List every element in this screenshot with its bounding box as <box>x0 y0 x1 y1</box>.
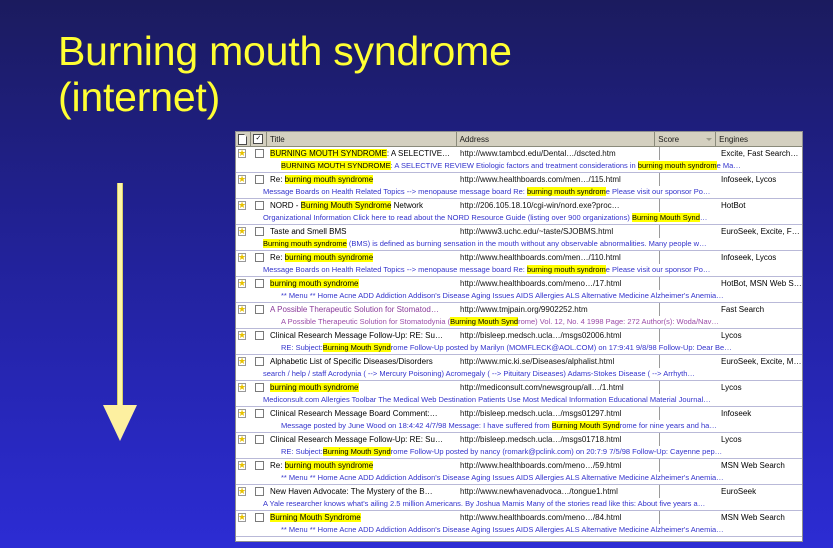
result-snippet[interactable]: ** Menu ** Home Acne ADD Addiction Addis… <box>236 472 802 484</box>
result-score <box>656 329 717 342</box>
checkbox-icon[interactable] <box>255 357 264 366</box>
column-header-score[interactable]: Score <box>655 132 716 147</box>
down-arrow-icon <box>102 183 138 441</box>
result-checkbox[interactable] <box>251 175 267 184</box>
sort-descending-icon[interactable] <box>706 138 712 141</box>
result-address[interactable]: http://www.tmjpain.org/9902252.htm <box>457 305 656 314</box>
result-page-icon[interactable]: ★ <box>236 513 251 523</box>
result-checkbox[interactable] <box>251 227 267 236</box>
table-row[interactable]: ★Clinical Research Message Follow-Up: RE… <box>236 329 802 355</box>
column-header-engines[interactable]: Engines <box>716 132 802 147</box>
result-engines: EuroSeek, Excite, M… <box>717 357 802 366</box>
score-bar <box>659 381 660 394</box>
score-bar <box>659 407 660 420</box>
score-bar <box>659 199 660 212</box>
score-bar <box>659 355 660 368</box>
arrow-head <box>103 405 137 441</box>
result-checkbox[interactable] <box>251 435 267 444</box>
table-row[interactable]: ★BURNING MOUTH SYNDROME: A SELECTIVE…htt… <box>236 147 802 173</box>
result-engines: Infoseek <box>717 409 802 418</box>
column-header-score-label: Score <box>658 132 679 147</box>
result-address[interactable]: http://www.tambcd.edu/Dental…/dscted.htm <box>457 149 656 158</box>
result-checkbox[interactable] <box>251 461 267 470</box>
result-score <box>656 147 717 160</box>
result-title[interactable]: Burning Mouth Syndrome <box>267 513 457 522</box>
table-row[interactable]: ★burning mouth syndromehttp://mediconsul… <box>236 381 802 407</box>
page-title: Burning mouth syndrome (internet) <box>58 28 618 120</box>
result-score <box>656 407 717 420</box>
result-page-icon[interactable]: ★ <box>236 331 251 341</box>
result-score <box>656 485 717 498</box>
result-address[interactable]: http://www.healthboards.com/meno…/17.htm… <box>457 279 656 288</box>
result-address[interactable]: http://www.healthboards.com/meno…/84.htm… <box>457 513 656 522</box>
checkbox-icon[interactable] <box>255 461 264 470</box>
result-page-icon[interactable]: ★ <box>236 201 251 211</box>
result-engines: EuroSeek <box>717 487 802 496</box>
arrow-shaft <box>117 183 123 408</box>
result-checkbox[interactable] <box>251 253 267 262</box>
star-page-icon: ★ <box>238 513 249 523</box>
result-checkbox[interactable] <box>251 201 267 210</box>
result-title[interactable]: Clinical Research Message Follow-Up: RE:… <box>267 435 457 444</box>
result-engines: MSN Web Search <box>717 513 802 522</box>
result-title[interactable]: A Possible Therapeutic Solution for Stom… <box>267 305 457 314</box>
result-title[interactable]: NORD - Burning Mouth Syndrome Network <box>267 201 457 210</box>
result-engines: EuroSeek, Excite, F… <box>717 227 802 236</box>
result-score <box>656 225 717 238</box>
result-checkbox[interactable] <box>251 357 267 366</box>
result-engines: Lycos <box>717 383 802 392</box>
result-page-icon[interactable]: ★ <box>236 279 251 289</box>
checkbox-icon[interactable] <box>255 149 264 158</box>
result-title[interactable]: Clinical Research Message Board Comment:… <box>267 409 457 418</box>
slide: Burning mouth syndrome (internet) ✓ Titl… <box>0 0 833 548</box>
result-snippet[interactable]: RE: Subject:Burning Mouth Syndrome Fol… <box>236 446 802 458</box>
result-engines: Fast Search <box>717 305 802 314</box>
result-score <box>656 511 717 524</box>
result-address[interactable]: http://mediconsult.com/newsgroup/all…/1.… <box>457 383 656 392</box>
result-engines: Infoseek, Lycos <box>717 175 802 184</box>
result-engines: Lycos <box>717 331 802 340</box>
result-snippet[interactable]: Message Boards on Health Related Topics … <box>236 264 802 276</box>
checkbox-icon[interactable] <box>255 279 264 288</box>
result-title[interactable]: Clinical Research Message Follow-Up: RE:… <box>267 331 457 340</box>
checkbox-icon[interactable] <box>255 435 264 444</box>
score-bar <box>659 459 660 472</box>
result-score <box>656 199 717 212</box>
table-row[interactable]: ★Re: burning mouth syndromehttp://www.he… <box>236 459 802 485</box>
star-page-icon: ★ <box>238 227 249 237</box>
star-page-icon: ★ <box>238 409 249 419</box>
checkbox-icon[interactable] <box>255 305 264 314</box>
column-header-address[interactable]: Address <box>457 132 656 147</box>
result-address[interactable]: http://www.healthboards.com/men…/110.htm… <box>457 253 656 262</box>
result-page-icon[interactable]: ★ <box>236 175 251 185</box>
column-header-title[interactable]: Title <box>267 132 457 147</box>
result-engines: Excite, Fast Search… <box>717 149 802 158</box>
result-address[interactable]: http://www.healthboards.com/men…/115.htm… <box>457 175 656 184</box>
table-row[interactable]: ★Clinical Research Message Board Comment… <box>236 407 802 433</box>
result-engines: HotBot, MSN Web S… <box>717 279 802 288</box>
result-page-icon[interactable]: ★ <box>236 149 251 159</box>
score-bar <box>659 225 660 238</box>
star-page-icon: ★ <box>238 279 249 289</box>
score-bar <box>659 433 660 446</box>
table-row[interactable]: ★Re: burning mouth syndromehttp://www.he… <box>236 173 802 199</box>
results-list[interactable]: ★BURNING MOUTH SYNDROME: A SELECTIVE…htt… <box>236 147 802 537</box>
result-page-icon[interactable]: ★ <box>236 305 251 315</box>
result-snippet[interactable]: A Possible Therapeutic Solution for Stom… <box>236 316 802 328</box>
score-bar <box>659 329 660 342</box>
star-page-icon: ★ <box>238 331 249 341</box>
table-row[interactable]: ★Alphabetic List of Specific Diseases/Di… <box>236 355 802 381</box>
result-page-icon[interactable]: ★ <box>236 487 251 497</box>
result-page-icon[interactable]: ★ <box>236 227 251 237</box>
result-page-icon[interactable]: ★ <box>236 357 251 367</box>
result-checkbox[interactable] <box>251 331 267 340</box>
result-title[interactable]: New Haven Advocate: The Mystery of the B… <box>267 487 457 496</box>
table-row[interactable]: ★Burning Mouth Syndromehttp://www.health… <box>236 511 802 537</box>
result-address[interactable]: http://bisleep.medsch.ucla…/msgs01297.ht… <box>457 409 656 418</box>
result-title[interactable]: burning mouth syndrome <box>267 383 457 392</box>
checkbox-icon[interactable] <box>255 487 264 496</box>
result-score <box>656 277 717 290</box>
result-snippet[interactable]: Message posted by June Wood on 18:4:42 4… <box>236 420 802 432</box>
result-checkbox[interactable] <box>251 513 267 522</box>
result-page-icon[interactable]: ★ <box>236 383 251 393</box>
score-bar <box>659 511 660 524</box>
score-bar <box>659 303 660 316</box>
checkbox-icon[interactable] <box>255 513 264 522</box>
result-page-icon[interactable]: ★ <box>236 435 251 445</box>
star-page-icon: ★ <box>238 149 249 159</box>
star-page-icon: ★ <box>238 383 249 393</box>
checkbox-icon[interactable] <box>255 175 264 184</box>
table-row[interactable]: ★Re: burning mouth syndromehttp://www.he… <box>236 251 802 277</box>
result-title[interactable]: BURNING MOUTH SYNDROME: A SELECTIVE… <box>267 149 457 158</box>
result-page-icon[interactable]: ★ <box>236 409 251 419</box>
result-page-icon[interactable]: ★ <box>236 461 251 471</box>
checkbox-icon[interactable] <box>255 331 264 340</box>
checkbox-checked-icon[interactable]: ✓ <box>253 134 263 144</box>
star-page-icon: ★ <box>238 435 249 445</box>
result-address[interactable]: http://www3.uchc.edu/~taste/SJOBMS.html <box>457 227 656 236</box>
checkbox-icon[interactable] <box>255 253 264 262</box>
star-page-icon: ★ <box>238 357 249 367</box>
result-title[interactable]: Taste and Smell BMS <box>267 227 457 236</box>
score-bar <box>659 173 660 186</box>
result-title[interactable]: Alphabetic List of Specific Diseases/Dis… <box>267 357 457 366</box>
result-snippet[interactable]: Burning mouth syndrome (BMS) is defined … <box>236 238 802 250</box>
result-checkbox[interactable] <box>251 487 267 496</box>
result-snippet[interactable]: RE: Subject:Burning Mouth Syndrome Fol… <box>236 342 802 354</box>
result-address[interactable]: http://www.mic.ki.se/Diseases/alphalist.… <box>457 357 656 366</box>
result-checkbox[interactable] <box>251 383 267 392</box>
result-snippet[interactable]: BURNING MOUTH SYNDROME: A SELECTIVE REVI… <box>236 160 802 172</box>
result-engines: Infoseek, Lycos <box>717 253 802 262</box>
checkbox-icon[interactable] <box>255 201 264 210</box>
result-checkbox[interactable] <box>251 149 267 158</box>
result-score <box>656 251 717 264</box>
star-page-icon: ★ <box>238 487 249 497</box>
result-engines: HotBot <box>717 201 802 210</box>
score-bar <box>659 277 660 290</box>
table-row[interactable]: ★Clinical Research Message Follow-Up: RE… <box>236 433 802 459</box>
score-bar <box>659 147 660 160</box>
column-header-checkbox[interactable]: ✓ <box>251 132 267 147</box>
star-page-icon: ★ <box>238 305 249 315</box>
checkbox-icon[interactable] <box>255 409 264 418</box>
result-checkbox[interactable] <box>251 305 267 314</box>
result-address[interactable]: http://www.newhavenadvoca…/tongue1.html <box>457 487 656 496</box>
table-row[interactable]: ★Taste and Smell BMShttp://www3.uchc.edu… <box>236 225 802 251</box>
column-header-document[interactable] <box>236 132 251 147</box>
star-page-icon: ★ <box>238 253 249 263</box>
result-address[interactable]: http://bisleep.medsch.ucla…/msgs01718.ht… <box>457 435 656 444</box>
result-address[interactable]: http://206.105.18.10/cgi-win/nord.exe?pr… <box>457 201 656 210</box>
table-row[interactable]: ★NORD - Burning Mouth Syndrome Networkht… <box>236 199 802 225</box>
result-engines: MSN Web Search <box>717 461 802 470</box>
result-address[interactable]: http://www.healthboards.com/meno…/59.htm… <box>457 461 656 470</box>
score-bar <box>659 485 660 498</box>
result-snippet[interactable]: search / help / staff Acrodynia ( --> Me… <box>236 368 802 380</box>
result-score <box>656 433 717 446</box>
star-page-icon: ★ <box>238 461 249 471</box>
results-column-header: ✓ Title Address Score Engines <box>236 132 802 147</box>
result-score <box>656 381 717 394</box>
result-engines: Lycos <box>717 435 802 444</box>
result-checkbox[interactable] <box>251 409 267 418</box>
result-title[interactable]: Re: burning mouth syndrome <box>267 461 457 470</box>
star-page-icon: ★ <box>238 175 249 185</box>
result-title[interactable]: burning mouth syndrome <box>267 279 457 288</box>
result-checkbox[interactable] <box>251 279 267 288</box>
result-score <box>656 355 717 368</box>
checkbox-icon[interactable] <box>255 383 264 392</box>
result-snippet[interactable]: ** Menu ** Home Acne ADD Addiction Addis… <box>236 290 802 302</box>
star-page-icon: ★ <box>238 201 249 211</box>
result-title[interactable]: Re: burning mouth syndrome <box>267 175 457 184</box>
table-row[interactable]: ★burning mouth syndromehttp://www.health… <box>236 277 802 303</box>
result-snippet[interactable]: Mediconsult.com Allergies Toolbar The Me… <box>236 394 802 406</box>
result-address[interactable]: http://bisleep.medsch.ucla…/msgs02006.ht… <box>457 331 656 340</box>
result-title[interactable]: Re: burning mouth syndrome <box>267 253 457 262</box>
score-bar <box>659 251 660 264</box>
result-page-icon[interactable]: ★ <box>236 253 251 263</box>
search-results-window[interactable]: ✓ Title Address Score Engines ★BURNING M… <box>235 131 803 542</box>
result-snippet[interactable]: A Yale researcher knows what's ailing 2.… <box>236 498 802 510</box>
result-score <box>656 173 717 186</box>
document-icon <box>238 134 247 145</box>
result-snippet[interactable]: ** Menu ** Home Acne ADD Addiction Addis… <box>236 524 802 536</box>
table-row[interactable]: ★New Haven Advocate: The Mystery of the … <box>236 485 802 511</box>
result-snippet[interactable]: Message Boards on Health Related Topics … <box>236 186 802 198</box>
result-snippet[interactable]: Organizational Information Click here to… <box>236 212 802 224</box>
checkbox-icon[interactable] <box>255 227 264 236</box>
result-score <box>656 303 717 316</box>
table-row[interactable]: ★A Possible Therapeutic Solution for Sto… <box>236 303 802 329</box>
result-score <box>656 459 717 472</box>
